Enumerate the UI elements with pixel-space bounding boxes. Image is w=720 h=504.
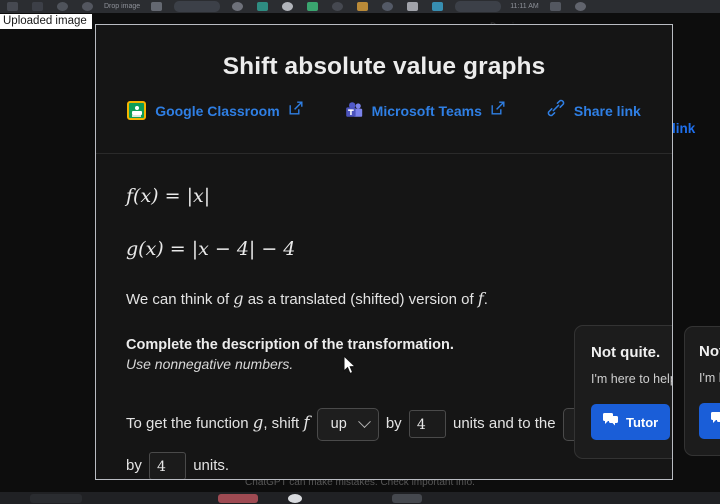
chat-bubble-icon: [603, 413, 618, 431]
sentence-part-1: We can think of: [126, 291, 229, 308]
vertical-direction-dropdown[interactable]: up: [317, 408, 379, 441]
background-partial-share-link[interactable]: link: [672, 121, 695, 136]
tutor-button-label: Tutor: [626, 415, 658, 430]
instruction-heading: Complete the description of the transfor…: [126, 337, 642, 353]
share-link-microsoft-teams[interactable]: Microsoft Teams: [345, 101, 505, 120]
vertical-units-input[interactable]: 4: [409, 410, 446, 438]
feedback-card-title: Not quite.: [591, 344, 673, 361]
taskbar-icon-white-app[interactable]: [282, 2, 293, 11]
taskbar-active-window-pill[interactable]: [174, 1, 220, 12]
tutor-button[interactable]: Tutor: [591, 404, 670, 440]
taskbar-icon-orange-app[interactable]: [357, 2, 368, 11]
feedback-card: Not quite. I'm here to help. Tutor: [574, 325, 673, 459]
taskbar-icon-bluegrey-app[interactable]: [382, 2, 393, 11]
external-link-icon: [289, 101, 303, 120]
taskbar-window-title: Drop image: [104, 3, 140, 10]
taskbar-icon-cyan-app[interactable]: [432, 2, 443, 11]
taskbar-icon-overflow[interactable]: [550, 2, 561, 11]
feedback-card-subtitle: I'm here to help.: [591, 372, 673, 386]
translation-sentence: We can think of g as a translated (shift…: [126, 288, 642, 310]
answer-var-f: f: [303, 413, 309, 432]
answer-by-label-1: by: [386, 415, 402, 432]
share-link-google-classroom-label: Google Classroom: [155, 103, 279, 119]
bottom-chip-dark[interactable]: [30, 494, 82, 503]
feedback-card-secondary-tutor-button[interactable]: [699, 403, 720, 439]
chain-link-icon: [547, 99, 565, 122]
taskbar-icon-app-3[interactable]: [82, 2, 93, 11]
feedback-card-secondary-title: Not quite.: [699, 343, 720, 360]
taskbar-icon-grey-app[interactable]: [332, 2, 343, 11]
answer-lead-text: To get the function: [126, 415, 249, 432]
bottom-taskbar: [0, 492, 720, 504]
sentence-part-2: as a translated (shifted) version of: [248, 291, 474, 308]
answer-by-label-2: by: [126, 457, 142, 474]
share-links-row: Google Classroom: [96, 99, 672, 122]
feedback-card-secondary: Not quite. I'm here to help.: [684, 326, 720, 456]
exercise-modal: Shift absolute value graphs Google Class…: [95, 24, 673, 480]
instruction-subtext: Use nonnegative numbers.: [126, 356, 642, 372]
answer-end-text: units.: [193, 457, 229, 474]
external-link-icon: [491, 101, 505, 120]
share-link-google-classroom[interactable]: Google Classroom: [127, 101, 302, 120]
microsoft-teams-icon: [345, 102, 363, 120]
sentence-part-3: .: [484, 291, 488, 308]
feedback-card-secondary-subtitle: I'm here to help.: [699, 371, 720, 385]
horizontal-units-input[interactable]: 4: [149, 452, 186, 480]
equation-f: f(x) = |x|: [126, 185, 642, 207]
answer-var-g: g: [253, 413, 264, 432]
bottom-chip-grey[interactable]: [392, 494, 422, 503]
os-taskbar: Drop image 11:11 AM: [0, 0, 720, 13]
taskbar-icon-window[interactable]: [151, 2, 162, 11]
taskbar-icon-app-2[interactable]: [57, 2, 68, 11]
vertical-direction-value: up: [331, 403, 347, 445]
share-link-microsoft-teams-label: Microsoft Teams: [372, 103, 482, 119]
taskbar-clock-pill[interactable]: [455, 1, 501, 12]
bottom-chip-red[interactable]: [218, 494, 258, 503]
google-classroom-icon: [127, 101, 146, 120]
bottom-chip-white[interactable]: [288, 494, 302, 503]
answer-shift-text: , shift: [263, 415, 299, 432]
equation-g: g(x) = |x − 4| − 4: [126, 238, 642, 260]
chevron-down-icon: [358, 415, 371, 428]
page-title: Shift absolute value graphs: [96, 25, 672, 81]
taskbar-icon-light-app[interactable]: [407, 2, 418, 11]
taskbar-icon-teal-app[interactable]: [257, 2, 268, 11]
taskbar-icon-app-1[interactable]: [32, 2, 43, 11]
sentence-var-g: g: [233, 289, 243, 308]
taskbar-icon-menu[interactable]: [7, 2, 18, 11]
taskbar-icon-green-app[interactable]: [307, 2, 318, 11]
taskbar-icon-last[interactable]: [575, 2, 586, 11]
taskbar-icon-app-4[interactable]: [232, 2, 243, 11]
chat-bubble-icon: [711, 412, 720, 430]
answer-mid-text: units and to the: [453, 415, 556, 432]
uploaded-image-tooltip: Uploaded image: [0, 14, 92, 29]
share-link-copy[interactable]: Share link: [547, 99, 641, 122]
answer-form: To get the function g, shift f up by 4 u…: [126, 402, 642, 480]
share-link-copy-label: Share link: [574, 103, 641, 119]
taskbar-clock: 11:11 AM: [510, 3, 539, 10]
